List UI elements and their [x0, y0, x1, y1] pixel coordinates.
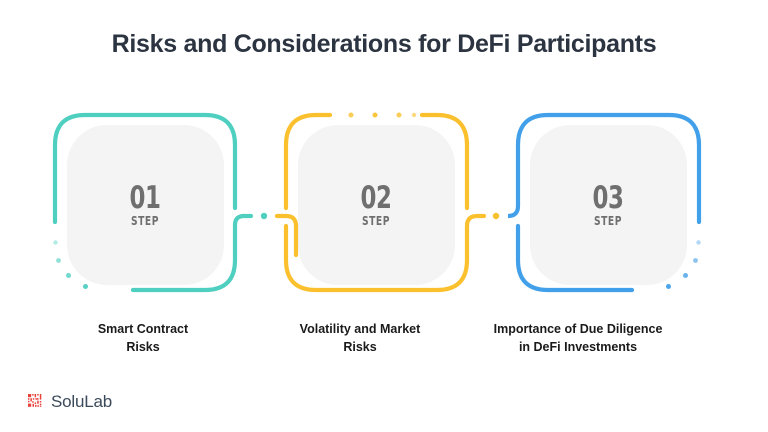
step-3-number: 03 [559, 183, 657, 214]
step-2-caption-line2: Risks [235, 338, 485, 356]
step-3-caption-line2: in DeFi Investments [453, 338, 703, 356]
slide-canvas: Risks and Considerations for DeFi Partic… [0, 0, 768, 432]
page-title: Risks and Considerations for DeFi Partic… [0, 30, 768, 59]
connector-dot-1 [261, 213, 267, 219]
step-3-caption: Importance of Due Diligence in DeFi Inve… [453, 320, 703, 356]
step-1-caption-line1: Smart Contract [18, 320, 268, 338]
step-1-number: 01 [96, 183, 194, 214]
step-2-number: 02 [327, 183, 425, 214]
step-2-decorative-dots [349, 113, 417, 118]
step-2-number-block: 02 STEP [316, 183, 436, 229]
step-1-caption: Smart Contract Risks [18, 320, 268, 356]
solulab-mark-icon [28, 394, 45, 411]
step-1-number-block: 01 STEP [85, 183, 205, 229]
step-1-step-label: STEP [94, 214, 196, 229]
step-3-step-label: STEP [557, 214, 659, 229]
step-2-caption: Volatility and Market Risks [235, 320, 485, 356]
step-3-number-block: 03 STEP [548, 183, 668, 229]
solulab-wordmark: SoluLab [51, 393, 112, 411]
step-3-caption-line1: Importance of Due Diligence [453, 320, 703, 338]
step-1-caption-line2: Risks [18, 338, 268, 356]
step-2-step-label: STEP [325, 214, 427, 229]
connector-dot-2 [493, 213, 499, 219]
solulab-logo[interactable]: SoluLab [28, 393, 112, 411]
step-2-caption-line1: Volatility and Market [235, 320, 485, 338]
